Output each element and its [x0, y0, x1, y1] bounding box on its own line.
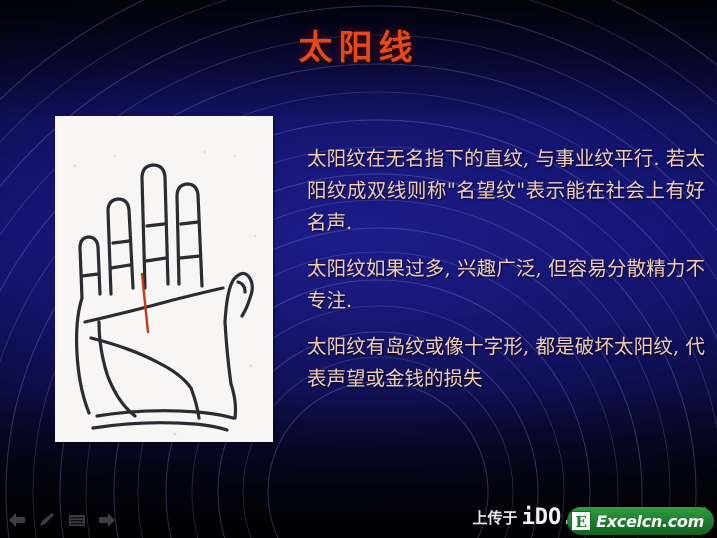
palm-sun-line-drawing — [55, 116, 273, 442]
pen-icon[interactable] — [38, 512, 56, 528]
arrow-left-icon[interactable] — [8, 512, 26, 528]
upload-credit-prefix: 上传于 — [473, 507, 518, 528]
excel-logo-icon: E — [571, 511, 591, 531]
body-paragraph-1: 太阳纹在无名指下的直纹, 与事业纹平行. 若太阳纹成双线则称"名望纹"表示能在社… — [307, 143, 705, 239]
presentation-slide: 太阳线 — [0, 0, 717, 538]
palm-diagram-image — [55, 116, 273, 442]
excelcn-watermark[interactable]: E Excelcn.com — [567, 507, 714, 535]
body-paragraph-3: 太阳纹有岛纹或像十字形, 都是破坏太阳纹, 代表声望或金钱的损失 — [307, 331, 705, 395]
body-paragraph-2: 太阳纹如果过多, 兴趣广泛, 但容易分散精力不专注. — [307, 253, 705, 317]
slide-body-text: 太阳纹在无名指下的直纹, 与事业纹平行. 若太阳纹成双线则称"名望纹"表示能在社… — [307, 143, 705, 395]
excelcn-watermark-label: Excelcn.com — [596, 512, 704, 531]
menu-icon[interactable] — [68, 512, 86, 528]
slide-footer: 上传于 iDO.3MT.COM.CN E Excelcn.com — [0, 486, 717, 538]
slideshow-nav-controls[interactable] — [8, 512, 116, 528]
arrow-right-icon[interactable] — [98, 512, 116, 528]
slide-title: 太阳线 — [0, 20, 717, 69]
